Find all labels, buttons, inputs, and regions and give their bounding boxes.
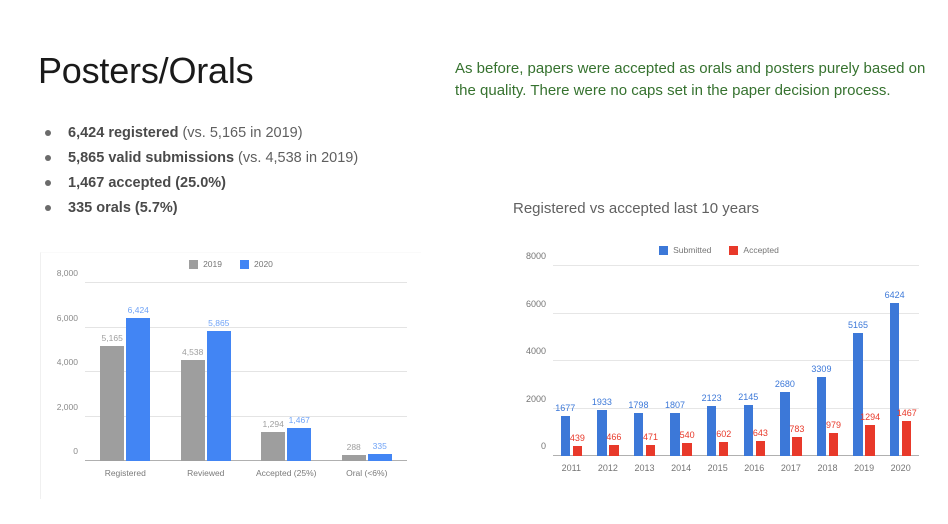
y-axis-tick-label: 2000: [526, 394, 546, 404]
bar[interactable]: 1807: [670, 413, 680, 456]
bar[interactable]: 540: [682, 443, 692, 456]
slide-canvas: Posters/Orals 6,424 registered (vs. 5,16…: [0, 0, 948, 524]
bar-value-label: 1677: [555, 403, 575, 413]
bullet-dot-icon: [45, 155, 51, 161]
bar[interactable]: 5,865: [207, 331, 231, 461]
bar-value-label: 6424: [885, 290, 905, 300]
bar-value-label: 1807: [665, 400, 685, 410]
bar-value-label: 288: [347, 442, 361, 452]
x-axis-line: [553, 455, 919, 457]
y-axis-tick-label: 4000: [526, 346, 546, 356]
chart-left-legend: 20192020: [41, 259, 421, 269]
x-axis-tick-label: 2019: [854, 463, 874, 473]
bar[interactable]: 1798: [634, 413, 644, 456]
y-axis-tick-label: 2,000: [57, 402, 78, 412]
bar[interactable]: 2145: [744, 405, 754, 456]
legend-label: Accepted: [743, 245, 778, 255]
legend-item-accepted[interactable]: Accepted: [729, 245, 778, 255]
bar-value-label: 466: [606, 432, 621, 442]
x-axis-tick-label: Oral (<6%): [346, 468, 387, 478]
bar-value-label: 1,294: [263, 419, 284, 429]
note-text: As before, papers were accepted as orals…: [455, 58, 935, 102]
list-item-rest: (vs. 4,538 in 2019): [234, 150, 358, 166]
bar-value-label: 1467: [897, 408, 917, 418]
bar-value-label: 540: [680, 430, 695, 440]
list-item-strong: 335 orals (5.7%): [68, 200, 178, 216]
gridline: [85, 282, 407, 283]
legend-swatch-icon: [189, 260, 198, 269]
list-item: 1,467 accepted (25.0%): [40, 174, 460, 192]
bar[interactable]: 6424: [890, 303, 900, 456]
x-axis-tick-label: 2018: [817, 463, 837, 473]
bullet-dot-icon: [45, 180, 51, 186]
bar[interactable]: 1,467: [287, 428, 311, 461]
bar[interactable]: 602: [719, 442, 729, 456]
bar-value-label: 602: [716, 429, 731, 439]
legend-item-2020[interactable]: 2020: [240, 259, 273, 269]
bar[interactable]: 335: [368, 454, 392, 461]
chart-2019-vs-2020: 20192020 02,0004,0006,0008,000Registered…: [40, 252, 421, 499]
x-axis-tick-label: 2014: [671, 463, 691, 473]
list-item: 335 orals (5.7%): [40, 199, 460, 217]
list-item-strong: 5,865 valid submissions: [68, 150, 234, 166]
gridline: [553, 408, 919, 409]
y-axis-tick-label: 0: [541, 441, 546, 451]
bar[interactable]: 643: [756, 441, 766, 456]
y-axis-tick-label: 8,000: [57, 268, 78, 278]
bar[interactable]: 2123: [707, 406, 717, 456]
bar-value-label: 1,467: [289, 415, 310, 425]
bar[interactable]: 979: [829, 433, 839, 456]
bar-value-label: 2145: [738, 392, 758, 402]
legend-item-submitted[interactable]: Submitted: [659, 245, 711, 255]
legend-label: Submitted: [673, 245, 711, 255]
bar-value-label: 6,424: [128, 305, 149, 315]
bar[interactable]: 1933: [597, 410, 607, 456]
y-axis-tick-label: 4,000: [57, 357, 78, 367]
list-item-strong: 6,424 registered: [68, 125, 178, 141]
y-axis-tick-label: 6000: [526, 299, 546, 309]
bar-value-label: 335: [373, 441, 387, 451]
bar-value-label: 5,165: [102, 333, 123, 343]
bar[interactable]: 5165: [853, 333, 863, 456]
bar[interactable]: 1294: [865, 425, 875, 456]
x-axis-tick-label: Registered: [105, 468, 146, 478]
gridline: [553, 360, 919, 361]
bar-value-label: 471: [643, 432, 658, 442]
x-axis-tick-label: 2020: [891, 463, 911, 473]
bar-value-label: 979: [826, 420, 841, 430]
bar[interactable]: 439: [573, 446, 583, 456]
bar-value-label: 3309: [811, 364, 831, 374]
bar-value-label: 643: [753, 428, 768, 438]
bar[interactable]: 6,424: [126, 318, 150, 461]
bar-value-label: 2123: [702, 393, 722, 403]
bar[interactable]: 2680: [780, 392, 790, 456]
bar[interactable]: 1677: [561, 416, 571, 456]
gridline: [553, 313, 919, 314]
bullet-dot-icon: [45, 130, 51, 136]
y-axis-tick-label: 6,000: [57, 313, 78, 323]
list-item: 6,424 registered (vs. 5,165 in 2019): [40, 124, 460, 142]
x-axis-tick-label: 2016: [744, 463, 764, 473]
bar-value-label: 1798: [628, 400, 648, 410]
bar[interactable]: 471: [646, 445, 656, 456]
x-axis-tick-label: 2012: [598, 463, 618, 473]
x-axis-tick-label: 2013: [634, 463, 654, 473]
page-title: Posters/Orals: [38, 50, 253, 92]
bar[interactable]: 1,294: [261, 432, 285, 461]
stats-bullet-list: 6,424 registered (vs. 5,165 in 2019)5,86…: [40, 124, 460, 224]
chart-registered-vs-accepted: Registered vs accepted last 10 years Sub…: [505, 196, 933, 498]
y-axis-tick-label: 8000: [526, 251, 546, 261]
bar-value-label: 783: [789, 424, 804, 434]
legend-swatch-icon: [659, 246, 668, 255]
chart-right-title: Registered vs accepted last 10 years: [513, 200, 759, 217]
bar[interactable]: 466: [609, 445, 619, 456]
bar[interactable]: 5,165: [100, 346, 124, 461]
legend-label: 2019: [203, 259, 222, 269]
bullet-dot-icon: [45, 205, 51, 211]
x-axis-tick-label: 2015: [708, 463, 728, 473]
list-item-strong: 1,467 accepted (25.0%): [68, 175, 226, 191]
chart-right-legend: SubmittedAccepted: [505, 245, 933, 255]
bar-value-label: 1294: [860, 412, 880, 422]
bar[interactable]: 3309: [817, 377, 827, 456]
bar-value-label: 5,865: [208, 318, 229, 328]
list-item-rest: (vs. 5,165 in 2019): [178, 125, 302, 141]
legend-item-2019[interactable]: 2019: [189, 259, 222, 269]
legend-swatch-icon: [729, 246, 738, 255]
bar-value-label: 2680: [775, 379, 795, 389]
list-item: 5,865 valid submissions (vs. 4,538 in 20…: [40, 149, 460, 167]
chart-left-plot: 02,0004,0006,0008,000Registered5,1656,42…: [85, 283, 407, 461]
bar-value-label: 1933: [592, 397, 612, 407]
bar-value-label: 5165: [848, 320, 868, 330]
bar[interactable]: 783: [792, 437, 802, 456]
y-axis-tick-label: 0: [73, 446, 78, 456]
x-axis-tick-label: Accepted (25%): [256, 468, 316, 478]
gridline: [553, 265, 919, 266]
legend-swatch-icon: [240, 260, 249, 269]
chart-right-plot: 0200040006000800020111677439201219334662…: [553, 266, 919, 456]
x-axis-tick-label: 2017: [781, 463, 801, 473]
bar[interactable]: 1467: [902, 421, 912, 456]
x-axis-tick-label: 2011: [562, 463, 581, 473]
x-axis-tick-label: Reviewed: [187, 468, 224, 478]
bar[interactable]: 4,538: [181, 360, 205, 461]
legend-label: 2020: [254, 259, 273, 269]
bar[interactable]: 288: [342, 455, 366, 461]
bar-value-label: 4,538: [182, 347, 203, 357]
bar-value-label: 439: [570, 433, 585, 443]
